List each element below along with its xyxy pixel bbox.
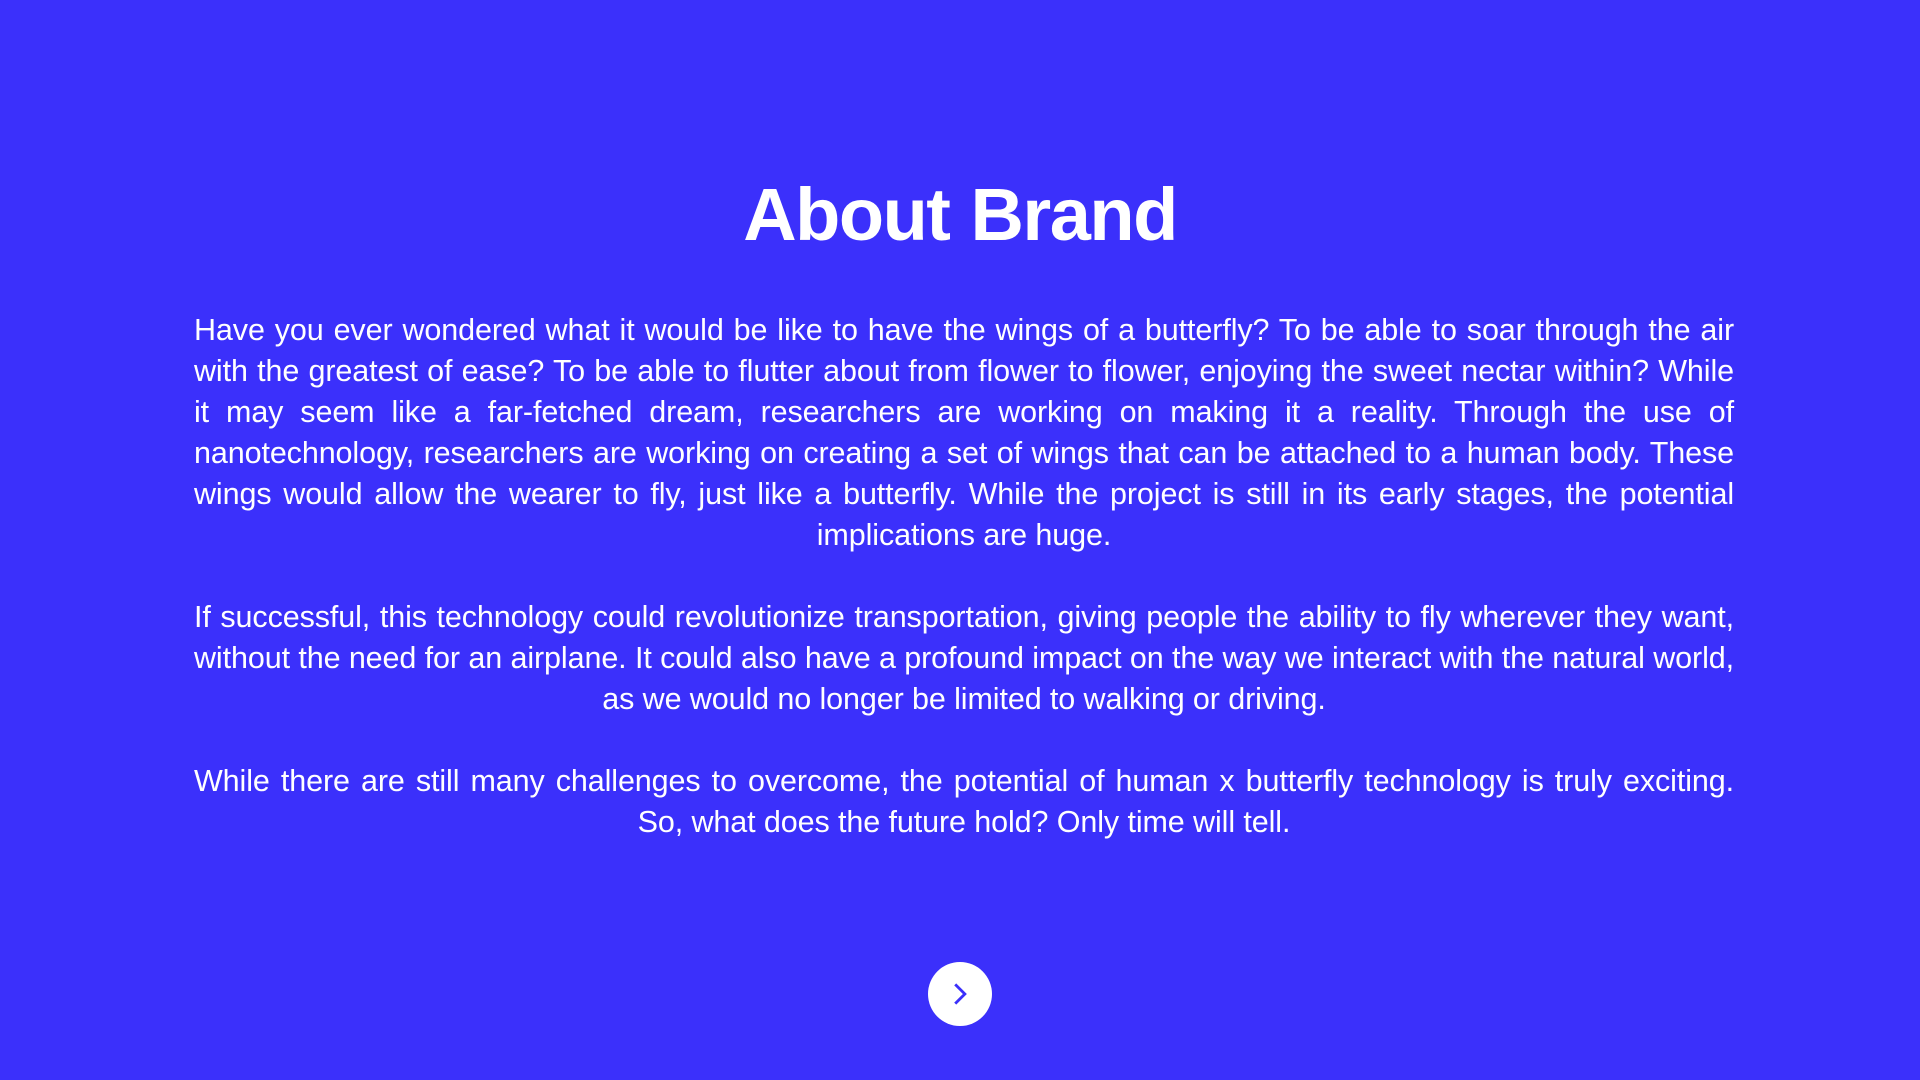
slide-about-brand: About Brand Have you ever wondered what … xyxy=(0,0,1920,1080)
page-title-container: About Brand xyxy=(0,178,1920,252)
body-content: Have you ever wondered what it would be … xyxy=(194,310,1734,843)
chevron-right-icon xyxy=(947,981,973,1007)
body-paragraph-2: If successful, this technology could rev… xyxy=(194,597,1734,720)
next-slide-button[interactable] xyxy=(928,962,992,1026)
body-paragraph-3: While there are still many challenges to… xyxy=(194,761,1734,843)
page-title: About Brand xyxy=(0,178,1920,252)
body-paragraph-1: Have you ever wondered what it would be … xyxy=(194,310,1734,556)
